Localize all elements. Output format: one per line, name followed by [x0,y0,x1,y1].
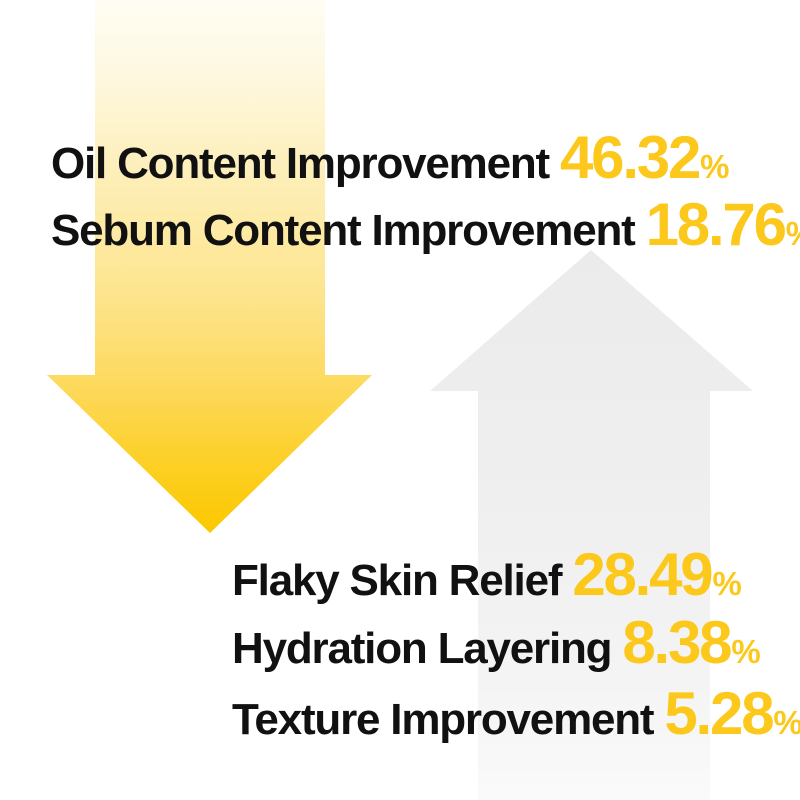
stat-unit: % [786,217,800,250]
stat-label: Flaky Skin Relief [232,559,561,603]
stat-unit: % [712,567,740,600]
stat-label: Oil Content Improvement [51,142,549,186]
stat-row-texture-improvement: Texture Improvement 5.28 % [232,684,765,744]
stat-label: Sebum Content Improvement [51,209,635,253]
stat-value: 28.49 [572,545,711,605]
stat-unit: % [731,635,759,668]
stat-label: Texture Improvement [232,698,653,742]
stat-unit: % [773,706,800,739]
stat-unit: % [700,150,728,183]
stat-value: 18.76 [646,195,785,255]
stat-label: Hydration Layering [232,627,611,671]
stat-value: 8.38 [622,613,730,673]
stat-row-sebum-content-improvement: Sebum Content Improvement 18.76 % [51,195,753,255]
stat-value: 5.28 [664,684,772,744]
stat-row-hydration-layering: Hydration Layering 8.38 % [232,613,732,673]
infographic-canvas: Oil Content Improvement 46.32 % Sebum Co… [0,0,800,800]
down-arrow-icon [47,0,372,533]
stat-value: 46.32 [560,128,699,188]
stat-row-flaky-skin-relief: Flaky Skin Relief 28.49 % [232,545,728,605]
stat-row-oil-content-improvement: Oil Content Improvement 46.32 % [51,128,696,188]
